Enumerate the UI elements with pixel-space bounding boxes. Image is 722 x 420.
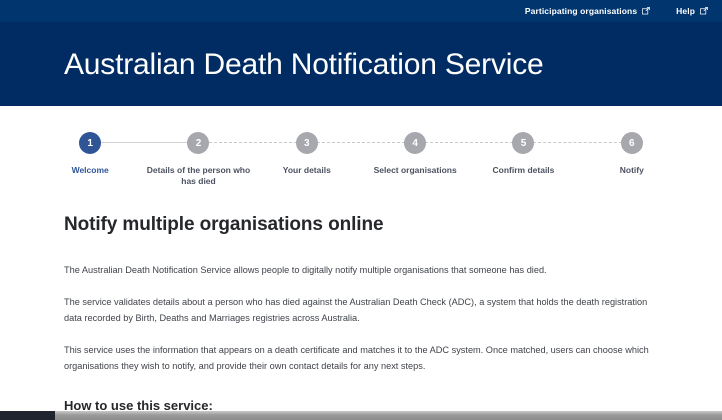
step-connector-3-4 <box>307 142 415 143</box>
step-6-circle[interactable]: 6 <box>621 132 643 154</box>
horizontal-scrollbar[interactable] <box>0 411 722 420</box>
site-header: Australian Death Notification Service <box>0 22 722 106</box>
step-circle-row: 3 <box>253 130 361 156</box>
step-5-confirm-details[interactable]: 5 Confirm details <box>469 130 577 176</box>
intro-paragraph-3: This service uses the information that a… <box>64 342 658 374</box>
step-5-label[interactable]: Confirm details <box>491 165 557 176</box>
step-circle-row: 1 <box>36 130 144 156</box>
step-5-circle[interactable]: 5 <box>512 132 534 154</box>
step-circle-row: 6 <box>578 130 686 156</box>
main-content: Notify multiple organisations online The… <box>0 188 722 413</box>
step-4-circle[interactable]: 4 <box>404 132 426 154</box>
content-area: 1 Welcome 2 Details of the person who ha… <box>0 106 722 420</box>
step-2-circle[interactable]: 2 <box>187 132 209 154</box>
step-2-label[interactable]: Details of the person who has died <box>144 165 252 188</box>
step-3-label[interactable]: Your details <box>281 165 333 176</box>
intro-paragraph-2: The service validates details about a pe… <box>64 294 658 326</box>
step-1-label[interactable]: Welcome <box>70 165 111 176</box>
horizontal-scrollbar-thumb[interactable] <box>0 411 55 420</box>
step-connector-1-2 <box>90 142 198 143</box>
step-6-notify[interactable]: 6 Notify <box>578 130 686 176</box>
step-circle-row: 2 <box>144 130 252 156</box>
step-1-welcome[interactable]: 1 Welcome <box>36 130 144 176</box>
step-connector-4-5 <box>415 142 523 143</box>
step-2-details-of-person[interactable]: 2 Details of the person who has died <box>144 130 252 188</box>
step-1-circle[interactable]: 1 <box>79 132 101 154</box>
external-link-icon <box>642 7 650 15</box>
step-connector-5-6 <box>523 142 631 143</box>
step-circle-row: 4 <box>361 130 469 156</box>
step-4-select-organisations[interactable]: 4 Select organisations <box>361 130 469 176</box>
step-3-circle[interactable]: 3 <box>296 132 318 154</box>
help-label: Help <box>676 6 695 16</box>
help-link[interactable]: Help <box>676 6 708 16</box>
page-title: Australian Death Notification Service <box>64 48 544 81</box>
external-link-icon <box>700 7 708 15</box>
step-6-label[interactable]: Notify <box>618 165 646 176</box>
progress-stepper: 1 Welcome 2 Details of the person who ha… <box>0 106 722 188</box>
intro-paragraph-1: The Australian Death Notification Servic… <box>64 262 658 278</box>
participating-organisations-link[interactable]: Participating organisations <box>525 6 650 16</box>
step-connector-2-3 <box>199 142 307 143</box>
step-4-label[interactable]: Select organisations <box>372 165 459 176</box>
participating-organisations-label: Participating organisations <box>525 6 637 16</box>
page-root: Participating organisations Help Au <box>0 0 722 420</box>
step-circle-row: 5 <box>469 130 577 156</box>
utility-bar: Participating organisations Help <box>0 0 722 22</box>
content-heading: Notify multiple organisations online <box>64 214 658 236</box>
step-3-your-details[interactable]: 3 Your details <box>253 130 361 176</box>
